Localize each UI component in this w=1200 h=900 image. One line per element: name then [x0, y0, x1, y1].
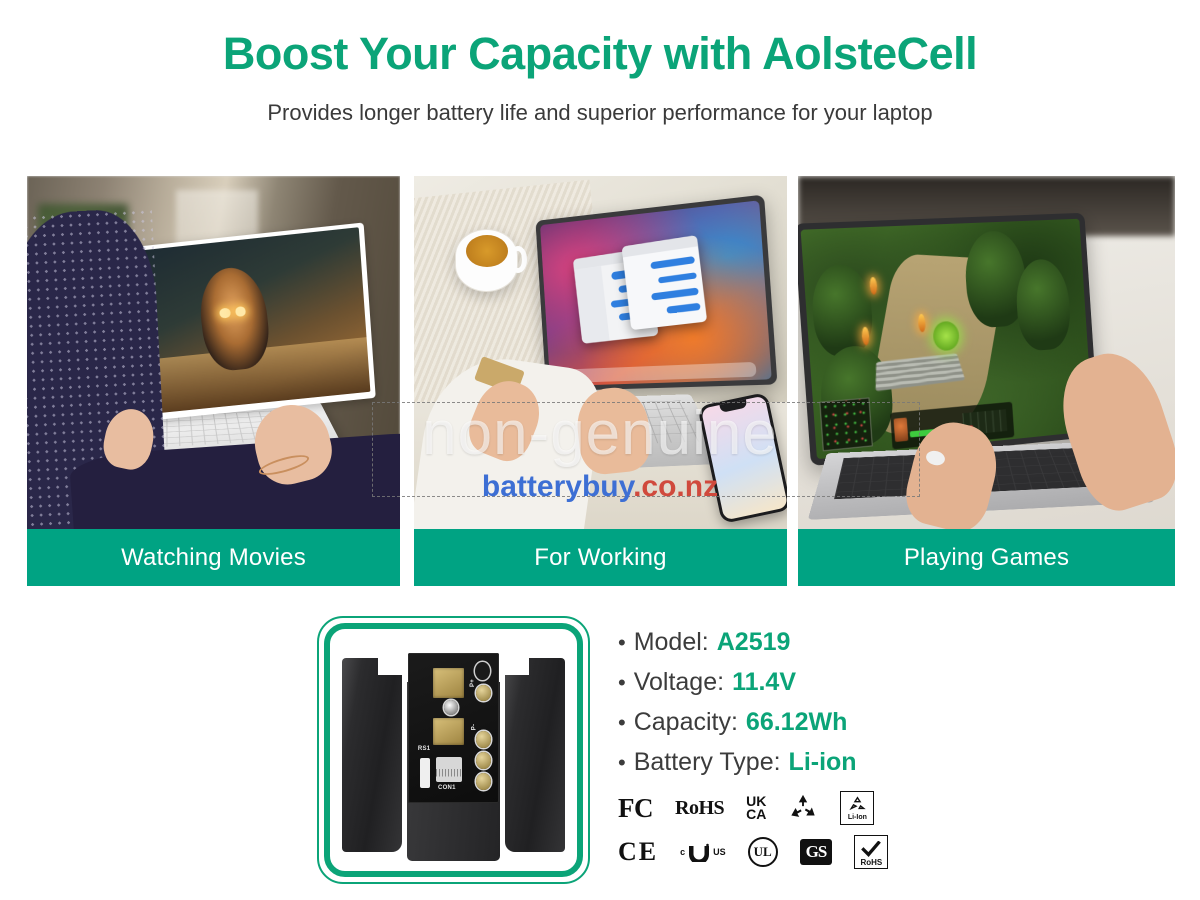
specification-list: • Model: A2519 • Voltage: 11.4V • Capaci…: [618, 628, 1048, 788]
bullet-icon: •: [618, 672, 626, 694]
ce-icon: CE: [618, 835, 658, 869]
certification-badges: FC RoHS UK CA: [618, 786, 918, 874]
battery-photo: RS1 CON1 P+ P-: [324, 623, 583, 877]
spec-label-battery-type: Battery Type:: [634, 748, 781, 777]
spec-value-model: A2519: [717, 628, 791, 657]
promo-page: Boost Your Capacity with AolsteCell Prov…: [0, 0, 1200, 900]
gs-icon: GS: [800, 835, 833, 869]
photo-playing-games: [798, 176, 1175, 529]
use-case-card-for-working[interactable]: For Working: [414, 176, 787, 586]
c-ul-us-icon-suffix: US: [713, 847, 726, 857]
ul-icon-label: UL: [754, 844, 772, 860]
spec-row-voltage: • Voltage: 11.4V: [618, 668, 1048, 697]
spec-value-voltage: 11.4V: [732, 668, 796, 697]
fcc-icon-label: FC: [618, 793, 653, 824]
spec-label-voltage: Voltage:: [634, 668, 724, 697]
use-case-gallery: Watching Movies: [0, 176, 1200, 586]
battery-pcb: RS1 CON1 P+ P-: [408, 653, 499, 803]
use-case-card-watching-movies[interactable]: Watching Movies: [27, 176, 400, 586]
caption-watching-movies: Watching Movies: [27, 529, 400, 586]
spec-value-battery-type: Li-ion: [789, 748, 857, 777]
certification-row-1: FC RoHS UK CA: [618, 786, 918, 830]
caption-playing-games: Playing Games: [798, 529, 1175, 586]
page-title: Boost Your Capacity with AolsteCell: [0, 28, 1200, 80]
photo-watching-movies: [27, 176, 400, 529]
fcc-icon: FC: [618, 791, 653, 825]
ul-icon: UL: [748, 835, 778, 869]
bullet-icon: •: [618, 752, 626, 774]
c-ul-us-icon-prefix: c: [680, 847, 685, 857]
ukca-icon: UK CA: [746, 791, 766, 825]
rohs-icon: RoHS: [675, 791, 724, 825]
spec-row-battery-type: • Battery Type: Li-ion: [618, 748, 1048, 777]
spec-value-capacity: 66.12Wh: [746, 708, 847, 737]
pcb-label-positive: P+: [470, 679, 476, 687]
photo-for-working: [414, 176, 787, 529]
bullet-icon: •: [618, 632, 626, 654]
spec-row-model: • Model: A2519: [618, 628, 1048, 657]
bullet-icon: •: [618, 712, 626, 734]
rohs-icon-label: RoHS: [675, 797, 724, 820]
page-subtitle: Provides longer battery life and superio…: [0, 100, 1200, 126]
rohs-check-icon: RoHS: [854, 835, 888, 869]
product-image-card: RS1 CON1 P+ P-: [317, 616, 590, 884]
li-ion-recycle-icon-label: Li-Ion: [848, 814, 867, 821]
ukca-icon-line2: CA: [746, 808, 766, 821]
spec-label-model: Model:: [634, 628, 709, 657]
c-ul-us-icon: c US: [680, 835, 726, 869]
li-ion-recycle-icon: Li-Ion: [840, 791, 874, 825]
pcb-label-rs1: RS1: [418, 746, 431, 752]
use-case-card-playing-games[interactable]: Playing Games: [798, 176, 1175, 586]
spec-row-capacity: • Capacity: 66.12Wh: [618, 708, 1048, 737]
gs-icon-label: GS: [806, 842, 827, 861]
rohs-check-icon-label: RoHS: [860, 858, 882, 867]
caption-for-working: For Working: [414, 529, 787, 586]
spec-label-capacity: Capacity:: [634, 708, 738, 737]
pcb-label-con1: CON1: [438, 785, 456, 791]
pcb-label-negative: P-: [471, 723, 477, 730]
ce-icon-label: CE: [618, 837, 658, 867]
recycle-icon: [788, 791, 818, 825]
certification-row-2: CE c US UL GS: [618, 830, 918, 874]
